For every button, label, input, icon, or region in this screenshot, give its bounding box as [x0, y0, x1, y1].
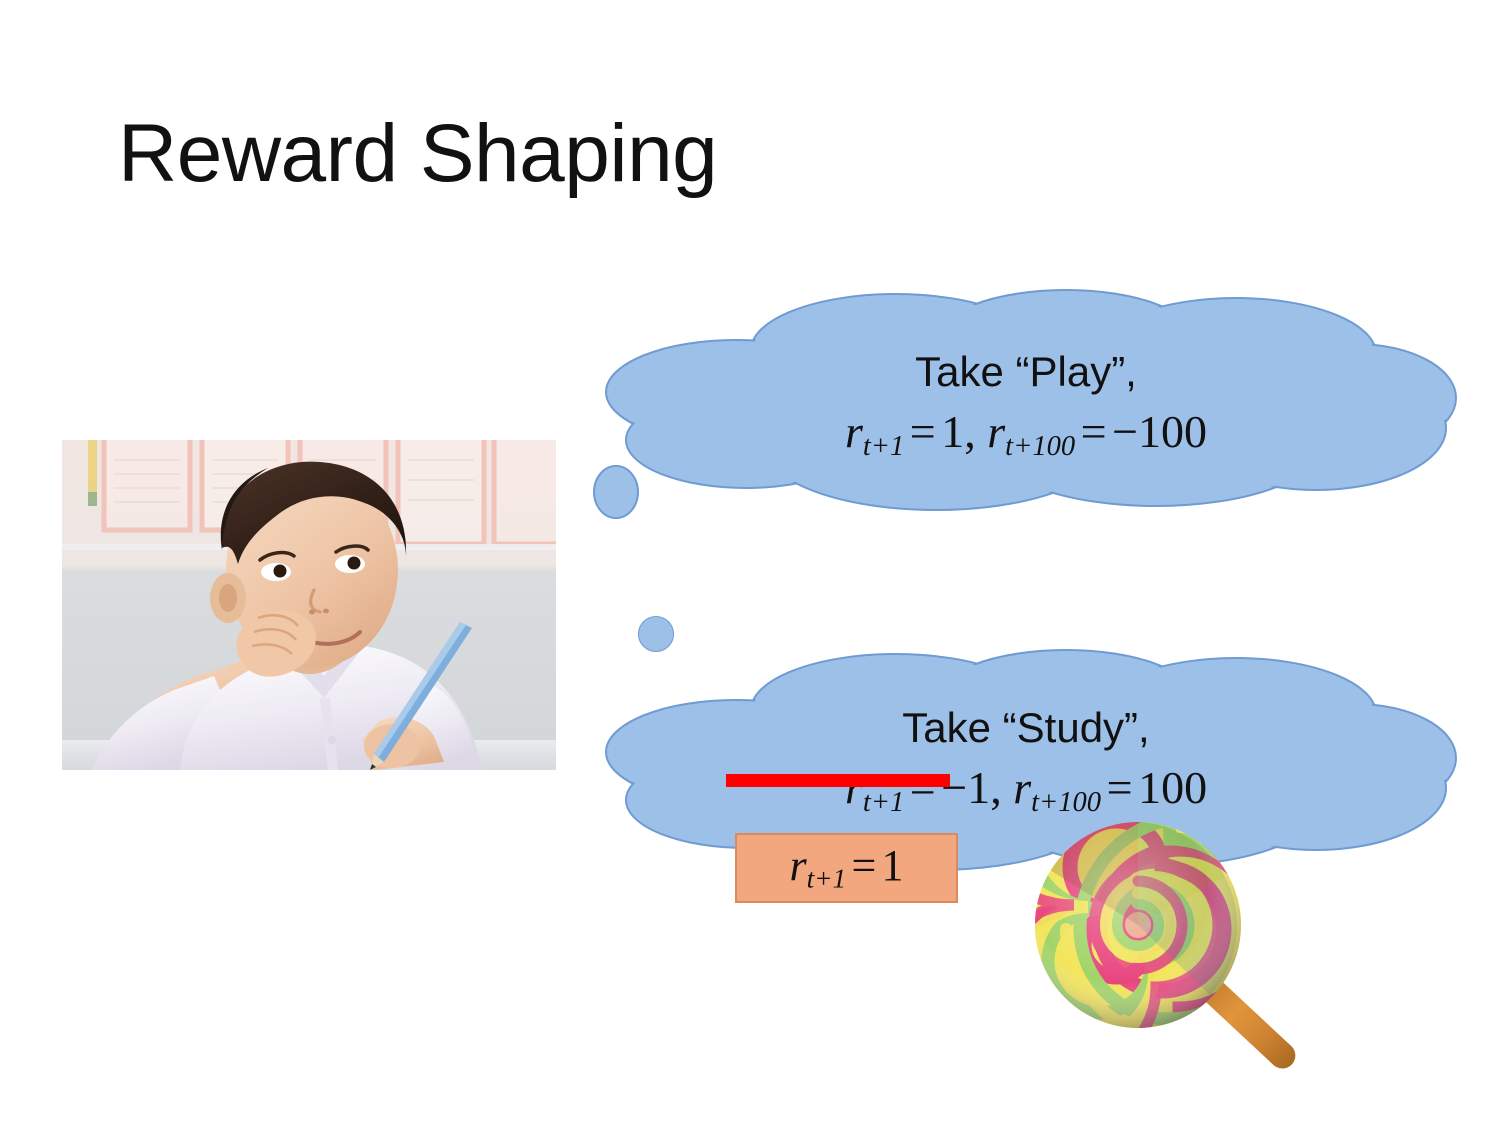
- thinking-boy-photo: [62, 440, 556, 770]
- lollipop-icon: [1020, 815, 1310, 1100]
- reward-box-sub: t+1: [807, 863, 847, 893]
- reward-box-value: 1: [882, 841, 904, 890]
- reward-box-var: r: [789, 841, 806, 890]
- reward-correction-equation: rt+1=1: [789, 840, 903, 895]
- slide-canvas: Reward Shaping: [0, 0, 1500, 1125]
- reward-correction-box: rt+1=1: [735, 833, 958, 903]
- red-strikethrough-bar: [726, 774, 950, 787]
- thought-cloud-play: Take “Play”, rt+1=1, rt+100=−100: [596, 288, 1456, 518]
- page-title: Reward Shaping: [118, 113, 717, 195]
- thought-dot-small-lower: [638, 616, 674, 652]
- reward-box-eq: =: [846, 841, 881, 890]
